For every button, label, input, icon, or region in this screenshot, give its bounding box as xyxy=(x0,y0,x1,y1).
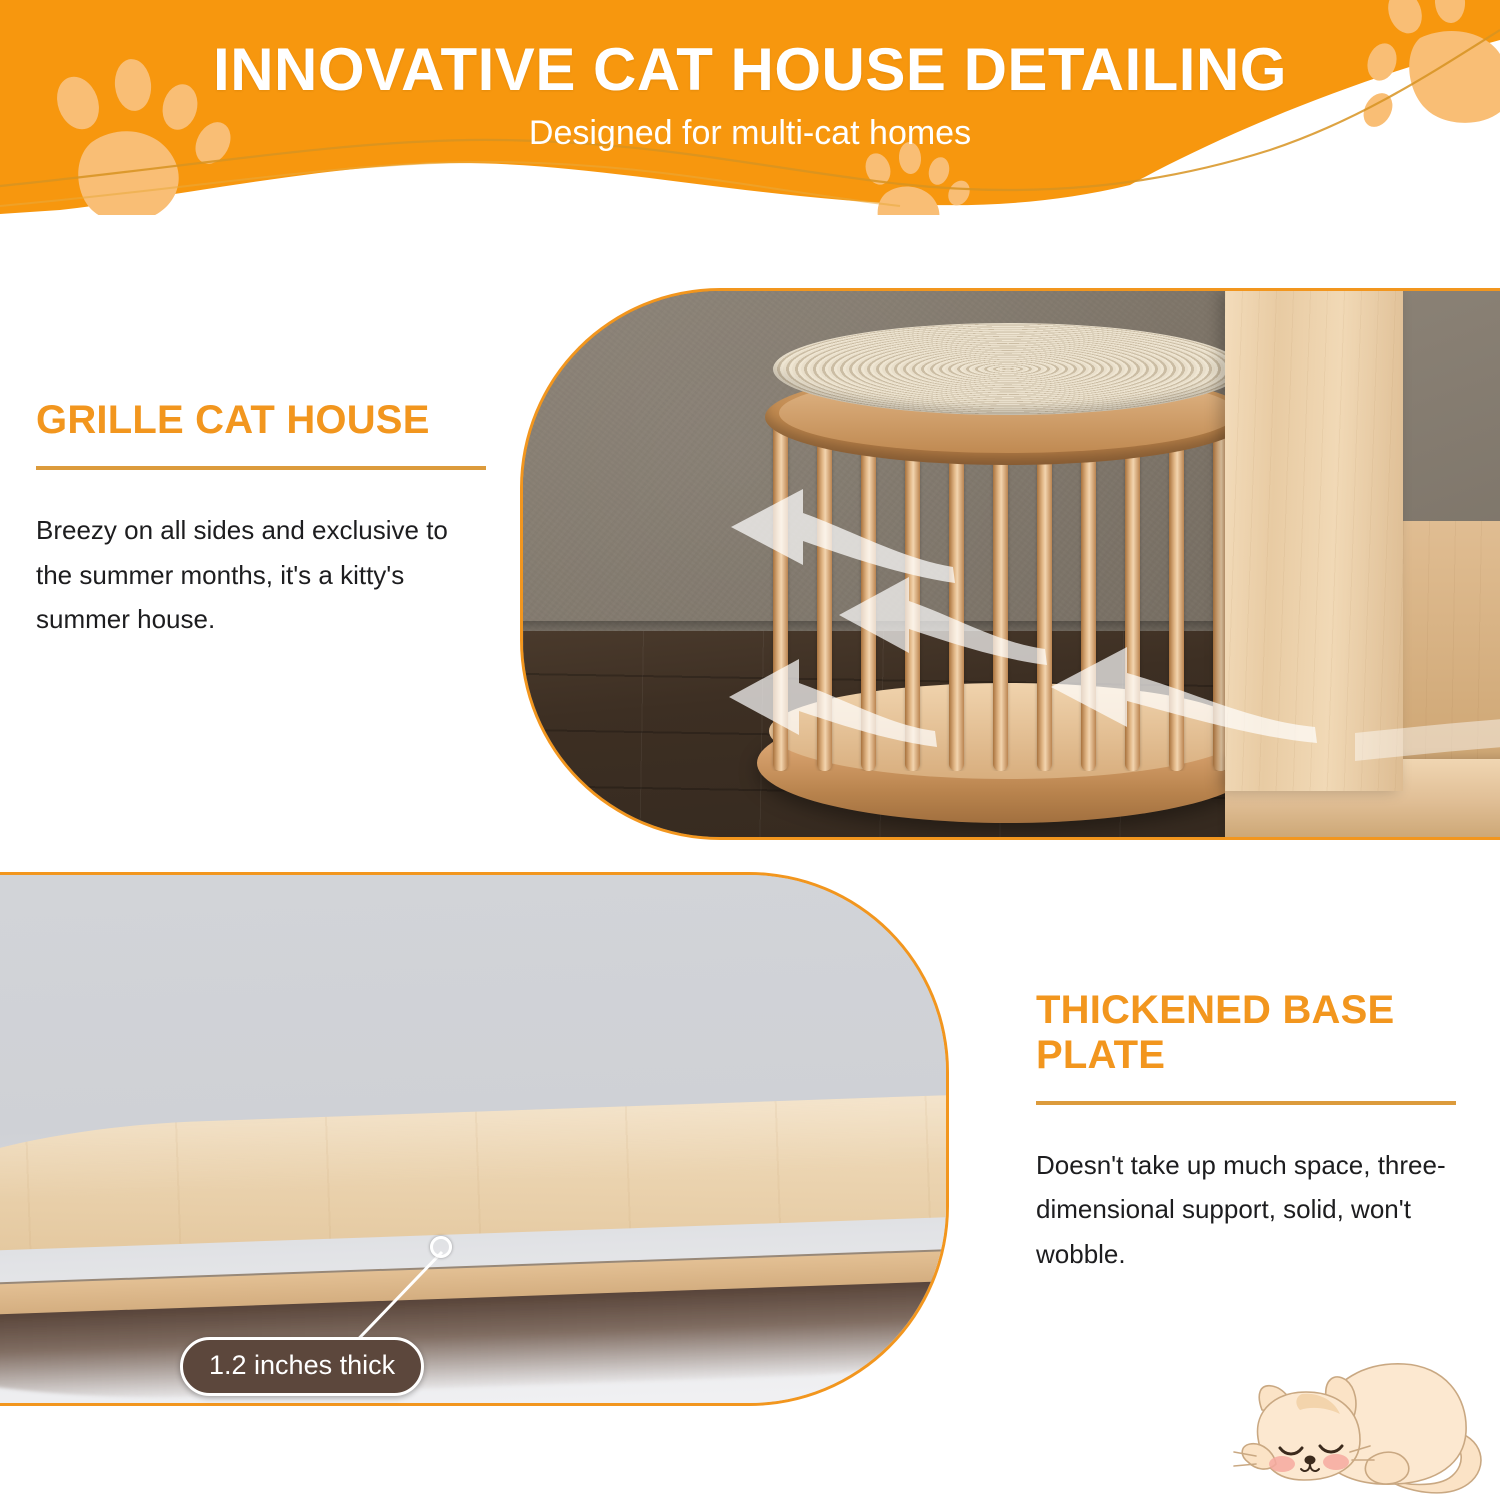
cat-leg xyxy=(1365,1452,1408,1484)
section-1-heading: GRILLE CAT HOUSE xyxy=(36,398,486,443)
sleeping-cat-icon xyxy=(1218,1352,1494,1497)
section-grille-cat-house-text: GRILLE CAT HOUSE Breezy on all sides and… xyxy=(36,398,486,642)
section-2-body: Doesn't take up much space, three-dimens… xyxy=(1036,1143,1456,1277)
section-thickened-base-plate-text: THICKENED BASE PLATE Doesn't take up muc… xyxy=(1036,988,1456,1277)
airflow-arrow-3 xyxy=(703,643,943,753)
section-2-divider xyxy=(1036,1101,1456,1105)
airflow-arrow-5 xyxy=(1353,703,1500,773)
section-1-divider xyxy=(36,466,486,470)
cat-cheek-right xyxy=(1323,1454,1349,1470)
page-subtitle: Designed for multi-cat homes xyxy=(0,115,1500,152)
infographic-page: INNOVATIVE CAT HOUSE DETAILING Designed … xyxy=(0,0,1500,1497)
woven-rope-top xyxy=(773,323,1243,415)
section-2-heading: THICKENED BASE PLATE xyxy=(1036,988,1456,1078)
cat-cheek-left xyxy=(1269,1456,1295,1472)
thickness-callout-label: 1.2 inches thick xyxy=(180,1337,424,1396)
header-text-block: INNOVATIVE CAT HOUSE DETAILING Designed … xyxy=(0,0,1500,152)
callout-marker-circle-icon xyxy=(430,1236,452,1258)
airflow-arrow-4 xyxy=(1023,631,1323,751)
page-title: INNOVATIVE CAT HOUSE DETAILING xyxy=(0,38,1500,101)
grille-cat-house-image xyxy=(520,288,1500,840)
thickened-base-plate-image xyxy=(0,872,949,1406)
section-1-body: Breezy on all sides and exclusive to the… xyxy=(36,508,486,642)
header-banner: INNOVATIVE CAT HOUSE DETAILING Designed … xyxy=(0,0,1500,215)
